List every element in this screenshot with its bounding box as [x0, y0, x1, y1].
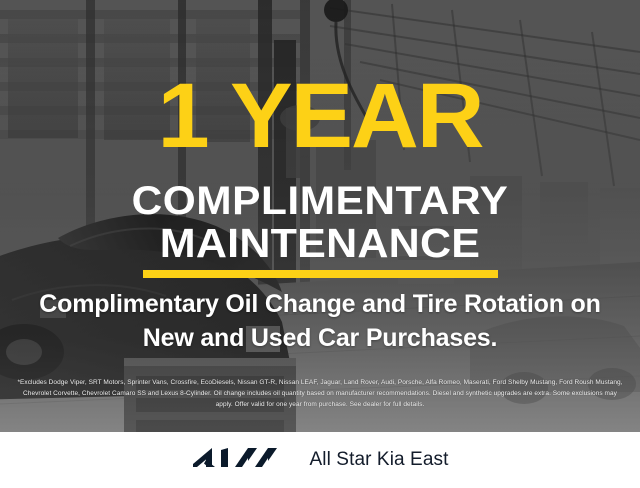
kia-logo-icon — [192, 447, 288, 473]
hero-section: 1 YEAR COMPLIMENTARY MAINTENANCE Complim… — [0, 0, 640, 432]
headline-line-2: COMPLIMENTARY — [0, 181, 640, 221]
headline-line-1: 1 YEAR — [0, 78, 640, 155]
promotional-banner: 1 YEAR COMPLIMENTARY MAINTENANCE Complim… — [0, 0, 640, 488]
disclaimer-text: *Excludes Dodge Viper, SRT Motors, Sprin… — [14, 377, 626, 411]
subheadline-text: Complimentary Oil Change and Tire Rotati… — [24, 288, 616, 355]
dealer-name: All Star Kia East — [310, 449, 449, 471]
headline-line-3: MAINTENANCE — [0, 223, 640, 264]
accent-divider-bar — [143, 270, 498, 278]
hero-content: 1 YEAR COMPLIMENTARY MAINTENANCE Complim… — [0, 0, 640, 432]
footer-bar: All Star Kia East — [0, 432, 640, 488]
